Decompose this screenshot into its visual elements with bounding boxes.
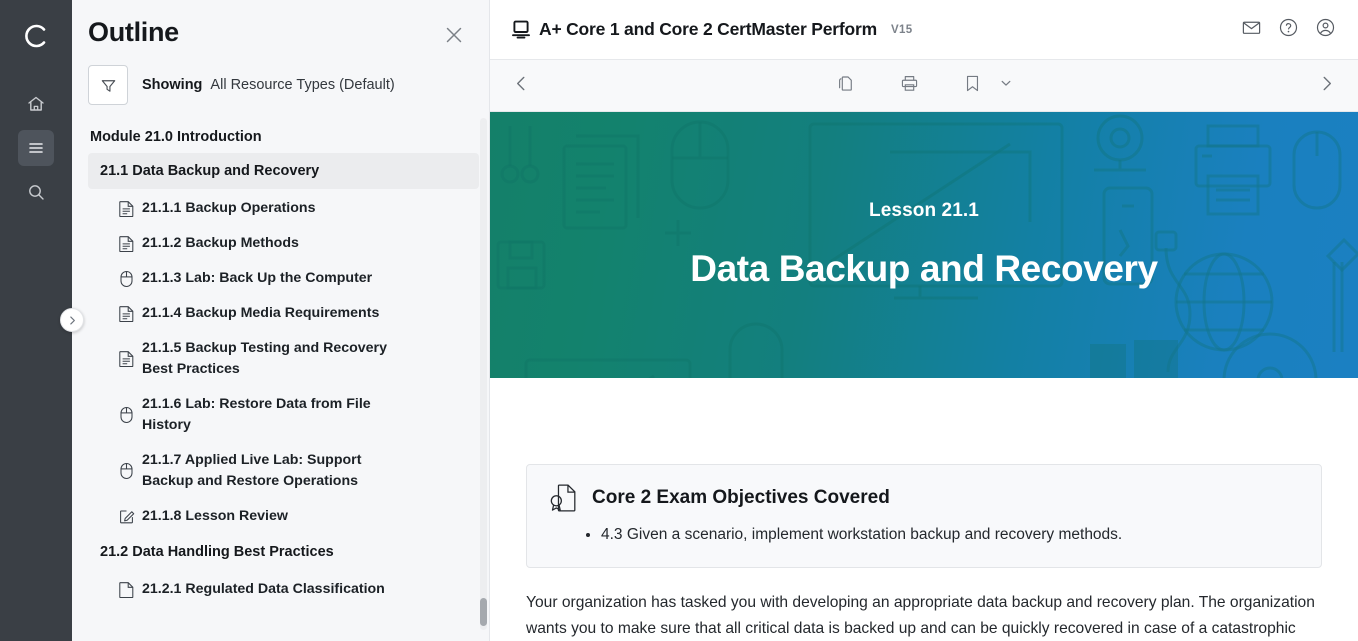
outline-header: Outline — [72, 0, 489, 51]
filter-button[interactable] — [88, 65, 128, 105]
mail-icon — [1241, 17, 1262, 38]
outline-module-heading[interactable]: Module 21.0 Introduction — [88, 123, 479, 151]
bookmark-button[interactable] — [962, 73, 983, 99]
list-item[interactable]: 21.2.1 Regulated Data Classification — [88, 572, 479, 607]
list-item[interactable]: 21.1.6 Lab: Restore Data from File Histo… — [88, 387, 479, 443]
exam-objectives-title: Core 2 Exam Objectives Covered — [592, 487, 890, 509]
list-item-label: 21.1.4 Backup Media Requirements — [142, 303, 379, 324]
help-button[interactable] — [1278, 17, 1299, 43]
chevron-right-icon — [67, 315, 78, 326]
certificate-icon — [549, 483, 578, 513]
help-circle-icon — [1278, 17, 1299, 38]
course-book-icon — [512, 20, 530, 39]
rail-expand-toggle[interactable] — [60, 308, 84, 332]
list-item[interactable]: 21.1.2 Backup Methods — [88, 226, 479, 261]
print-button[interactable] — [899, 73, 920, 99]
list-item-label: 21.1.8 Lesson Review — [142, 506, 288, 527]
mail-button[interactable] — [1241, 17, 1262, 43]
mouse-icon — [118, 463, 135, 480]
hero-title: Data Backup and Recovery — [690, 248, 1157, 290]
outline-scrollbar-track[interactable] — [480, 118, 487, 630]
lesson-toolbar — [490, 60, 1358, 112]
bookmark-menu-button[interactable] — [999, 76, 1013, 95]
lesson-body: Core 2 Exam Objectives Covered 4.3 Given… — [490, 464, 1358, 641]
course-header: A+ Core 1 and Core 2 CertMaster Perform … — [490, 0, 1358, 60]
course-header-actions — [1241, 17, 1336, 43]
list-item-label: 21.1.1 Backup Operations — [142, 198, 315, 219]
list-item-label: 21.1.5 Backup Testing and Recovery Best … — [142, 338, 400, 380]
outline-lesson-21-1[interactable]: 21.1 Data Backup and Recovery — [88, 153, 479, 189]
account-button[interactable] — [1315, 17, 1336, 43]
lesson-intro-paragraph: Your organization has tasked you with de… — [526, 590, 1316, 641]
hero-pattern-icons — [490, 112, 1358, 378]
main-content: A+ Core 1 and Core 2 CertMaster Perform … — [490, 0, 1358, 641]
list-item[interactable]: 21.1.8 Lesson Review — [88, 499, 479, 534]
left-rail — [0, 0, 72, 641]
outline-panel: Outline Showing All Resource Types (Defa… — [72, 0, 490, 641]
sidebar-item-home[interactable] — [18, 86, 54, 122]
list-item-label: 21.1.6 Lab: Restore Data from File Histo… — [142, 394, 400, 436]
app-logo[interactable] — [12, 12, 60, 60]
bookmark-icon — [962, 73, 983, 94]
chevron-down-icon — [999, 76, 1013, 90]
search-icon — [26, 182, 46, 202]
filter-showing-text: Showing — [142, 77, 202, 93]
exam-objectives-list: 4.3 Given a scenario, implement workstat… — [587, 523, 1299, 547]
course-header-left: A+ Core 1 and Core 2 CertMaster Perform … — [512, 19, 1241, 40]
outline-tree: Module 21.0 Introduction 21.1 Data Backu… — [72, 105, 489, 607]
document-icon — [118, 235, 135, 252]
sidebar-item-outline[interactable] — [18, 130, 54, 166]
document-icon — [118, 305, 135, 322]
exam-objectives-header: Core 2 Exam Objectives Covered — [549, 483, 1299, 513]
toolbar-center-actions — [490, 73, 1358, 99]
hero-lesson-label: Lesson 21.1 — [869, 200, 979, 222]
outline-title: Outline — [88, 16, 179, 48]
outline-lesson-21-2[interactable]: 21.2 Data Handling Best Practices — [88, 534, 479, 570]
outline-scrollbar-thumb[interactable] — [480, 598, 487, 626]
copy-icon — [836, 73, 857, 94]
list-item[interactable]: 21.1.7 Applied Live Lab: Support Backup … — [88, 443, 479, 499]
document-icon — [118, 200, 135, 217]
list-item-label: 21.1.3 Lab: Back Up the Computer — [142, 268, 372, 289]
menu-icon — [26, 138, 46, 158]
copy-button[interactable] — [836, 73, 857, 99]
close-icon — [443, 24, 465, 46]
exam-objectives-box: Core 2 Exam Objectives Covered 4.3 Given… — [526, 464, 1322, 568]
exam-objective-item: 4.3 Given a scenario, implement workstat… — [601, 523, 1299, 547]
page-title: A+ Core 1 and Core 2 CertMaster Perform — [539, 19, 877, 40]
list-item[interactable]: 21.1.5 Backup Testing and Recovery Best … — [88, 331, 479, 387]
document-icon — [118, 581, 135, 598]
list-item-label: 21.1.2 Backup Methods — [142, 233, 299, 254]
list-item[interactable]: 21.1.1 Backup Operations — [88, 191, 479, 226]
filter-icon — [99, 76, 118, 95]
outline-filter-row: Showing All Resource Types (Default) — [72, 51, 489, 105]
list-item-label: 21.1.7 Applied Live Lab: Support Backup … — [142, 450, 400, 492]
mouse-icon — [118, 270, 135, 287]
home-icon — [26, 94, 46, 114]
lesson-hero-banner: Lesson 21.1 Data Backup and Recovery — [490, 112, 1358, 378]
app-root: Outline Showing All Resource Types (Defa… — [0, 0, 1358, 641]
print-icon — [899, 73, 920, 94]
document-icon — [118, 351, 135, 368]
mouse-icon — [118, 407, 135, 424]
list-item[interactable]: 21.1.4 Backup Media Requirements — [88, 296, 479, 331]
filter-value-text[interactable]: All Resource Types (Default) — [210, 77, 394, 93]
close-outline-button[interactable] — [443, 24, 465, 51]
sidebar-item-search[interactable] — [18, 174, 54, 210]
list-item[interactable]: 21.1.3 Lab: Back Up the Computer — [88, 261, 479, 296]
c-logo-icon — [23, 23, 49, 49]
user-circle-icon — [1315, 17, 1336, 38]
list-item-label: 21.2.1 Regulated Data Classification — [142, 579, 385, 600]
pencil-square-icon — [118, 508, 135, 525]
version-badge: V15 — [891, 24, 913, 36]
filter-showing-label: Showing All Resource Types (Default) — [142, 77, 395, 93]
